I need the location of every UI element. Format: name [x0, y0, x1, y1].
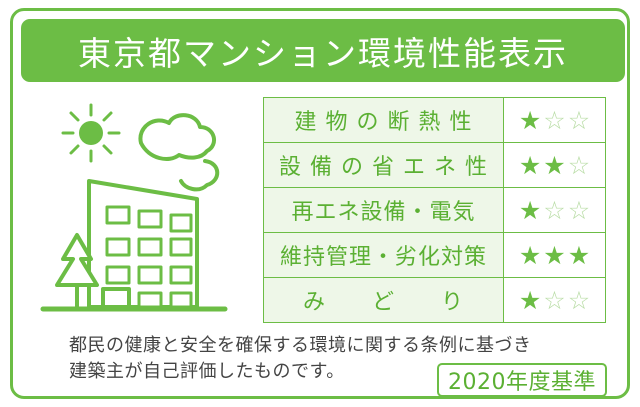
eco-mansion-illustration: [29, 89, 261, 324]
star-filled: ★: [519, 198, 541, 223]
star-filled: ★: [519, 288, 541, 313]
rating-stars-insulation: ★☆☆: [504, 98, 606, 143]
table-row: 建 物 の 断 熱 性 ★☆☆: [264, 98, 606, 143]
rating-label-insulation: 建 物 の 断 熱 性: [264, 98, 504, 143]
table-row: 設 備 の 省 エ ネ 性 ★★☆: [264, 143, 606, 188]
star-empty: ☆: [568, 108, 590, 133]
footer-note-line-1: 都民の健康と安全を確保する環境に関する条例に基づき: [69, 333, 489, 359]
footer-note: 都民の健康と安全を確保する環境に関する条例に基づき 建築主が自己評価したものです…: [69, 333, 489, 385]
rating-label-maintenance: 維持管理・劣化対策: [264, 233, 504, 278]
star-empty: ☆: [543, 108, 565, 133]
rating-stars-energy-saving: ★★☆: [504, 143, 606, 188]
cloud-icon: [140, 115, 217, 189]
page-title: 東京都マンション環境性能表示: [78, 27, 568, 75]
rating-label-greenery: み ど り: [264, 278, 504, 323]
table-row: み ど り ★☆☆: [264, 278, 606, 323]
star-empty: ☆: [568, 198, 590, 223]
environmental-performance-placard: 東京都マンション環境性能表示: [10, 8, 630, 399]
rating-stars-maintenance: ★★★: [504, 233, 606, 278]
star-empty: ☆: [568, 288, 590, 313]
star-empty: ☆: [543, 198, 565, 223]
star-filled: ★: [519, 108, 541, 133]
building-icon: [89, 181, 197, 307]
rating-stars-renewable-energy: ★☆☆: [504, 188, 606, 233]
rating-stars-greenery: ★☆☆: [504, 278, 606, 323]
rating-label-energy-saving: 設 備 の 省 エ ネ 性: [264, 143, 504, 188]
star-filled: ★: [543, 153, 565, 178]
table-row: 維持管理・劣化対策 ★★★: [264, 233, 606, 278]
star-empty: ☆: [568, 153, 590, 178]
star-filled: ★: [568, 243, 590, 268]
star-filled: ★: [519, 243, 541, 268]
table-row: 再エネ設備・電気 ★☆☆: [264, 188, 606, 233]
star-empty: ☆: [543, 288, 565, 313]
sun-icon: [63, 105, 119, 161]
star-filled: ★: [543, 243, 565, 268]
year-standard-badge: 2020年度基準: [437, 363, 607, 397]
star-filled: ★: [519, 153, 541, 178]
title-band: 東京都マンション環境性能表示: [21, 19, 625, 82]
footer-note-line-2: 建築主が自己評価したものです。: [69, 359, 489, 385]
ratings-table: 建 物 の 断 熱 性 ★☆☆ 設 備 の 省 エ ネ 性 ★★☆ 再エネ設備・…: [263, 97, 606, 323]
rating-label-renewable-energy: 再エネ設備・電気: [264, 188, 504, 233]
